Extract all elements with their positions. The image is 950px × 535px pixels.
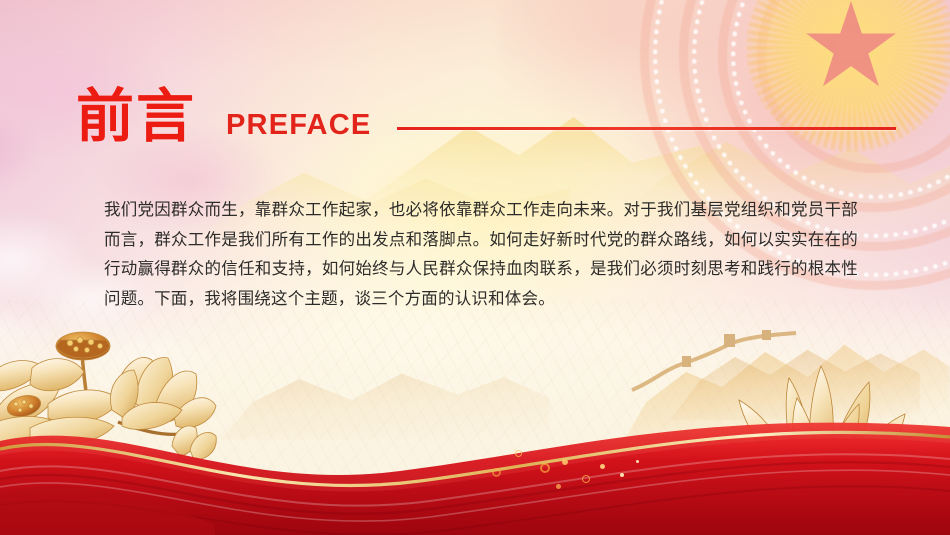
body-paragraph: 我们党因群众而生，靠群众工作起家，也必将依靠群众工作走向未来。对于我们基层党组织… xyxy=(104,196,858,314)
page-title-cn: 前言 xyxy=(76,88,196,146)
red-ribbon-wave xyxy=(0,375,950,535)
page-title-en: PREFACE xyxy=(226,109,371,142)
bokeh-dot xyxy=(515,450,522,457)
bokeh-dot xyxy=(492,468,501,477)
red-divider-rule xyxy=(397,127,896,130)
bokeh-dot xyxy=(540,463,550,473)
bokeh-dot xyxy=(582,475,590,483)
body-text-block: 我们党因群众而生，靠群众工作起家，也必将依靠群众工作走向未来。对于我们基层党组织… xyxy=(104,196,858,314)
divider-container xyxy=(397,127,896,130)
preface-slide: 前言 PREFACE 我们党因群众而生，靠群众工作起家，也必将依靠群众工作走向未… xyxy=(0,0,950,535)
bokeh-dot xyxy=(600,464,605,469)
bokeh-dot xyxy=(562,459,568,465)
bokeh-dot xyxy=(620,473,624,477)
bokeh-dot xyxy=(556,484,561,489)
page-header: 前言 PREFACE xyxy=(76,88,896,146)
bokeh-dot xyxy=(636,460,639,463)
